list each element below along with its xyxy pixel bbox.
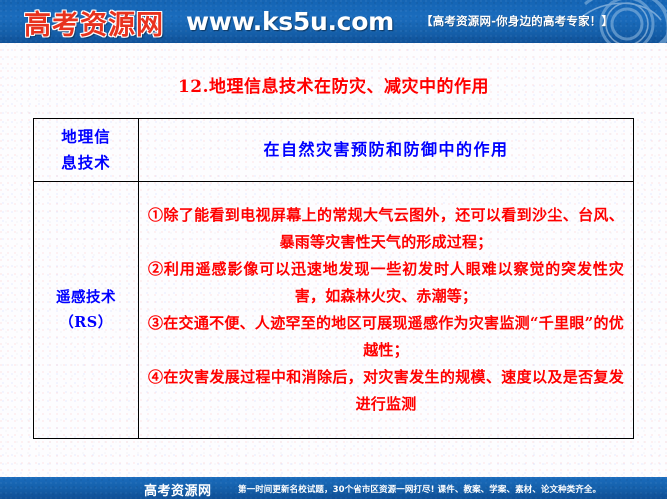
content-item-4: ④在灾害发展过程中和消除后，对灾害发生的规模、速度以及是否复发进行监测: [148, 364, 624, 418]
info-table: 地理信 息技术 在自然灾害预防和防御中的作用 遥感技术 （RS） ①除了能看到电…: [33, 118, 634, 439]
site-logo-text[interactable]: 高考资源网: [24, 3, 164, 42]
table-header-row: 地理信 息技术 在自然灾害预防和防御中的作用: [34, 119, 634, 182]
row-content-remote-sensing: ①除了能看到电视屏幕上的常规大气云图外，还可以看到沙尘、台风、暴雨等灾害性天气的…: [139, 182, 634, 439]
content-item-2: ②利用遥感影像可以迅速地发现一些初发时人眼难以察觉的突发性灾害，如森林火灾、赤潮…: [148, 256, 624, 310]
footer-brand: 高考资源网: [144, 480, 212, 499]
site-header-bar: 高考资源网 www.ks5u.com 【高考资源网-你身边的高考专家！】: [0, 0, 667, 43]
slide-canvas: 高考资源网 www.ks5u.com 【高考资源网-你身边的高考专家！】 12.…: [0, 0, 667, 499]
row-label-line2: （RS）: [34, 310, 138, 335]
header-left-line2: 息技术: [34, 150, 138, 176]
site-tagline: 【高考资源网-你身边的高考专家！】: [421, 13, 613, 29]
content-item-1: ①除了能看到电视屏幕上的常规大气云图外，还可以看到沙尘、台风、暴雨等灾害性天气的…: [148, 202, 624, 256]
row-label-remote-sensing: 遥感技术 （RS）: [34, 182, 139, 439]
footer-description: 第一时间更新名校试题，30个省市区资源一网打尽! 课件、教案、学案、素材、论文种…: [238, 483, 601, 495]
table-header-cell-role: 在自然灾害预防和防御中的作用: [139, 119, 634, 182]
table-row: 遥感技术 （RS） ①除了能看到电视屏幕上的常规大气云图外，还可以看到沙尘、台风…: [34, 182, 634, 439]
site-footer-bar: 高考资源网 第一时间更新名校试题，30个省市区资源一网打尽! 课件、教案、学案、…: [0, 477, 667, 499]
content-item-3: ③在交通不便、人迹罕至的地区可展现遥感作为灾害监测“千里眼”的优越性；: [148, 310, 624, 364]
row-label-line1: 遥感技术: [34, 285, 138, 310]
header-left-line1: 地理信: [34, 124, 138, 150]
table-header-cell-category: 地理信 息技术: [34, 119, 139, 182]
site-url-text[interactable]: www.ks5u.com: [186, 7, 394, 36]
page-title: 12.地理信息技术在防灾、减灾中的作用: [0, 76, 667, 98]
